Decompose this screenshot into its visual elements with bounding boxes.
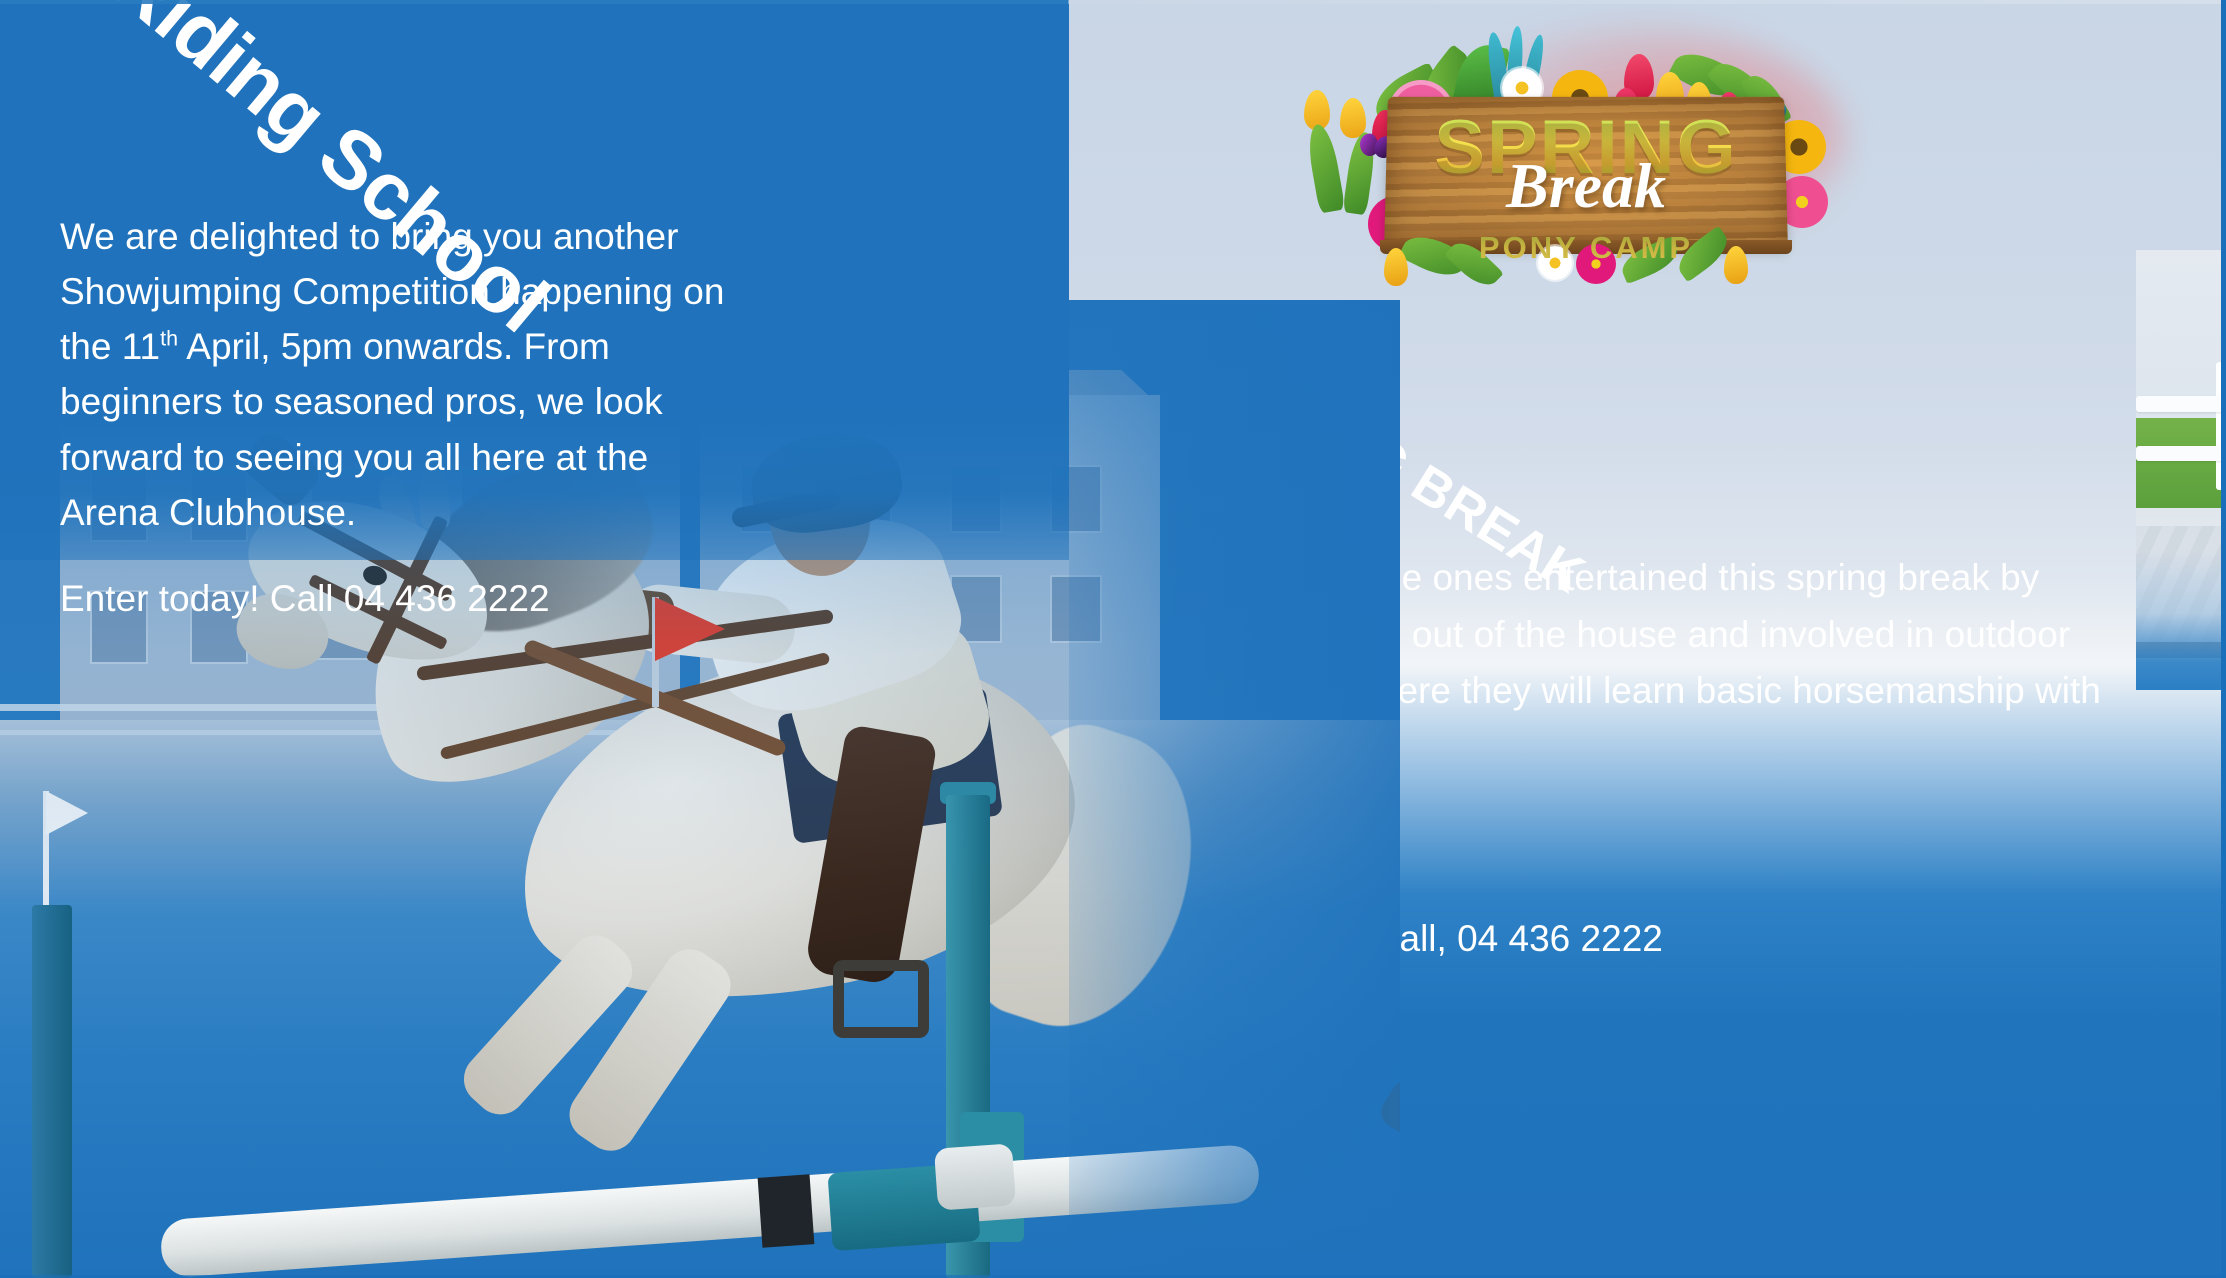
- jump-pole-cup: [934, 1143, 1016, 1210]
- riding-school-cta: Enter today! Call 04 436 2222: [60, 578, 550, 620]
- photo-grass: [2136, 418, 2226, 510]
- stirrup-icon: [833, 960, 929, 1038]
- photo-bottom-fade: [2136, 550, 2226, 690]
- top-border: [0, 0, 2226, 4]
- right-border: [2221, 0, 2226, 1278]
- white-flag-icon: [46, 791, 88, 835]
- riding-school-body: We are delighted to bring you another Sh…: [60, 209, 740, 540]
- jump-pole-stripe: [758, 1174, 815, 1247]
- fence-rail: [2136, 446, 2226, 461]
- spring-break-pony-camp-logo: SPRING Break PONY CAMP: [1276, 14, 1836, 274]
- leaf: [1305, 122, 1346, 213]
- promo-poster: SPRING BREAK Keep the little ones entert…: [0, 0, 2226, 1278]
- fence-rail: [2136, 396, 2226, 412]
- logo-break-text: Break: [1426, 154, 1746, 218]
- logo-pony-camp-text: PONY CAMP: [1396, 230, 1776, 266]
- ordinal-suffix: th: [160, 327, 178, 351]
- jump-standard: [32, 905, 72, 1278]
- pony-camp-photo: [2136, 250, 2226, 690]
- red-flag-icon: [655, 597, 725, 661]
